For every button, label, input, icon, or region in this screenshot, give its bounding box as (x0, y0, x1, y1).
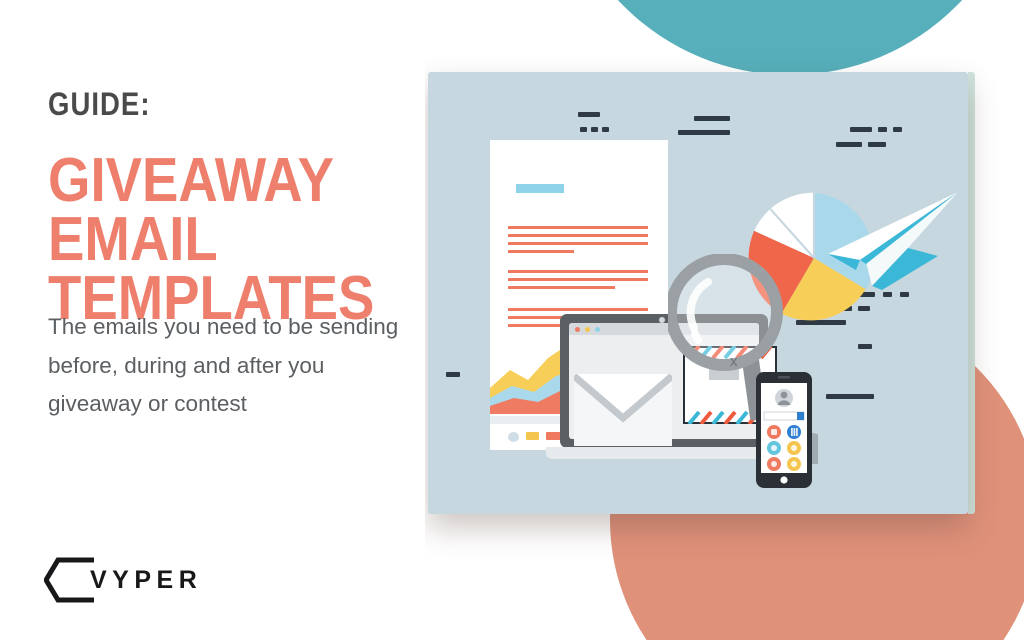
dash-mark (826, 394, 874, 399)
open-hexagon-chevron-icon (44, 556, 96, 609)
envelope-icon (574, 374, 672, 446)
dash-mark (858, 344, 872, 349)
dash-mark (591, 127, 598, 132)
browser-dot-close[interactable] (575, 327, 580, 332)
dash-mark (836, 142, 862, 147)
document-text-line (508, 226, 648, 229)
laptop-base (546, 447, 782, 459)
document-text-line (508, 286, 615, 289)
page-title: GIVEAWAY EMAIL TEMPLATES (48, 152, 382, 329)
illustration-card-edge (968, 72, 975, 514)
paper-plane-icon (820, 190, 960, 296)
smartphone (756, 372, 812, 488)
browser-dot-maximize[interactable] (595, 327, 600, 332)
document-text-line (508, 234, 648, 237)
document-text-line (508, 250, 574, 253)
background-circle-teal (555, 0, 1024, 75)
dash-mark (580, 127, 587, 132)
dash-mark (446, 372, 460, 377)
document-text-line (508, 308, 648, 311)
document-header-bar (516, 184, 564, 193)
phone-speaker (778, 376, 790, 379)
brand-logo[interactable]: VYPER (44, 552, 224, 608)
dash-mark (694, 116, 730, 121)
document-text-line (508, 278, 648, 281)
text-column: GUIDE: GIVEAWAY EMAIL TEMPLATES The emai… (0, 0, 425, 640)
dash-mark (850, 127, 872, 132)
page-title-line-1: GIVEAWAY EMAIL (48, 152, 382, 270)
dash-mark (678, 130, 730, 135)
eyebrow-label: GUIDE: (48, 88, 151, 120)
document-text-line (508, 270, 648, 273)
dash-mark (893, 127, 902, 132)
page-subtitle: The emails you need to be sending before… (48, 308, 408, 424)
dash-mark (578, 112, 600, 117)
brand-wordmark: VYPER (90, 566, 202, 595)
legend-chip (508, 432, 519, 442)
phone-home-button (780, 476, 787, 483)
dash-mark (878, 127, 887, 132)
dash-mark (868, 142, 886, 147)
close-x-label: x (730, 353, 738, 370)
dash-mark (602, 127, 609, 132)
search-icon (797, 412, 804, 420)
legend-chip (526, 432, 539, 440)
browser-dot-minimize[interactable] (585, 327, 590, 332)
document-text-line (508, 242, 648, 245)
cover-canvas: x (0, 0, 1024, 640)
illustration-card: x (428, 72, 968, 514)
